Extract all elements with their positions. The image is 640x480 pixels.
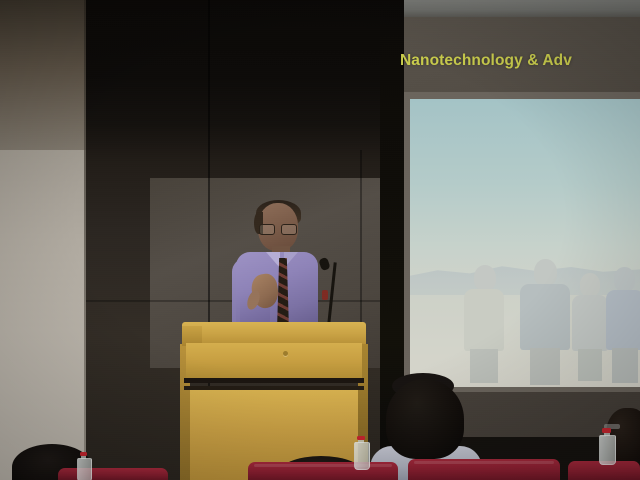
audience-member-head xyxy=(386,379,464,459)
seat-highlight xyxy=(254,464,392,467)
left-wall-upper xyxy=(0,0,86,152)
slide-photo-person xyxy=(520,259,570,385)
glasses-icon xyxy=(259,224,297,233)
slide-photo-sky xyxy=(410,99,640,285)
podium-body xyxy=(186,343,362,379)
water-bottle xyxy=(354,436,368,468)
seat-highlight xyxy=(414,461,554,464)
podium-top xyxy=(182,322,366,344)
microphone-indicator xyxy=(322,290,328,300)
left-wall-panel xyxy=(0,150,86,480)
auditorium-seat xyxy=(58,468,168,480)
podium-knob xyxy=(283,351,288,356)
slide-photo-person xyxy=(462,265,506,383)
projection-screen xyxy=(410,99,640,387)
ceiling-band xyxy=(380,0,640,17)
lecture-hall-photo: Nanotechnology & Adv 昆明理工大学 KUNMING INST… xyxy=(0,0,640,480)
slide-photo-person xyxy=(606,267,640,383)
slide-title: Nanotechnology & Adv xyxy=(400,52,640,70)
podium-trim-band xyxy=(184,378,364,383)
slide-photo-person xyxy=(572,273,608,381)
water-bottle xyxy=(77,452,90,480)
water-bottle xyxy=(599,428,614,463)
